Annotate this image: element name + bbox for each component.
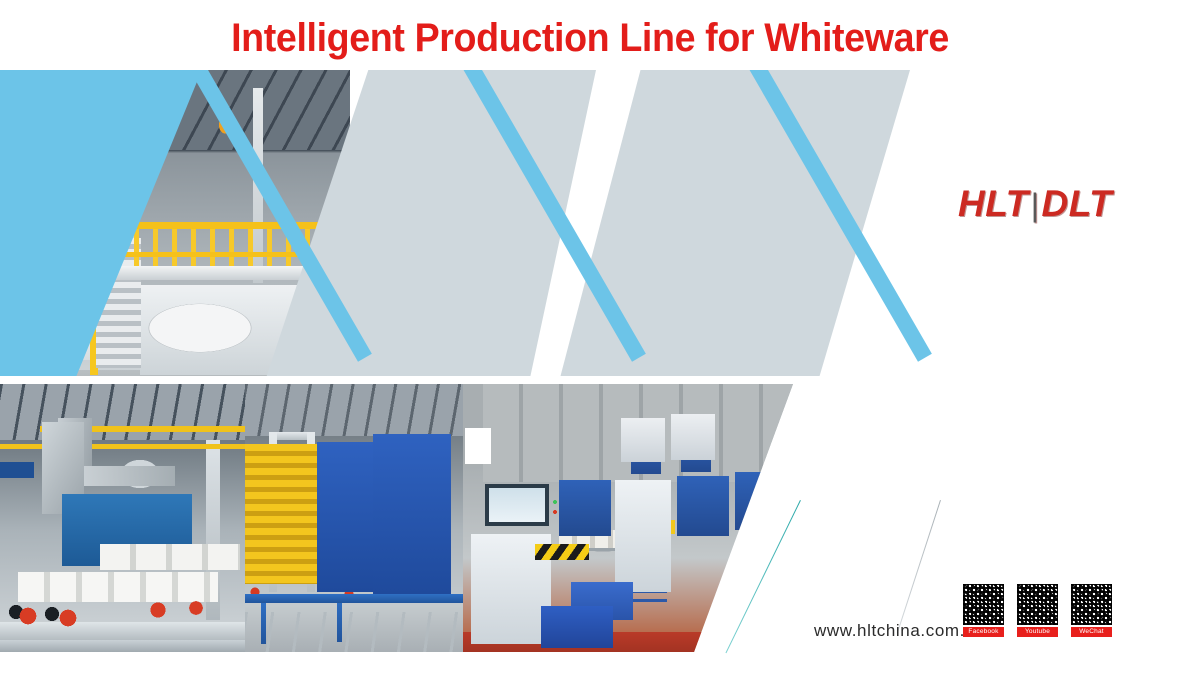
qr-code-image [963, 584, 1004, 625]
qr-label: WeChat [1071, 627, 1112, 637]
qr-wechat[interactable]: WeChat [1071, 584, 1112, 637]
photo-glazing-line [0, 384, 250, 652]
qr-label: Facebook [963, 627, 1004, 637]
photo-surface [463, 384, 793, 652]
photo-inspection-grinding-line [463, 384, 793, 652]
logo-hlt: HLT [958, 183, 1029, 224]
poster-root: Intelligent Production Line for Whitewar… [0, 0, 1180, 682]
brand-logo: HLT|DLT [958, 183, 1112, 225]
qr-code-image [1017, 584, 1058, 625]
page-title: Intelligent Production Line for Whitewar… [35, 16, 1144, 61]
qr-youtube[interactable]: Youtube [1017, 584, 1058, 637]
qr-code-image [1071, 584, 1112, 625]
logo-dlt: DLT [1042, 183, 1113, 224]
photo-blue-drying-cabinets [245, 384, 470, 652]
photo-surface [0, 384, 250, 652]
qr-facebook[interactable]: Facebook [963, 584, 1004, 637]
qr-label: Youtube [1017, 627, 1058, 637]
qr-code-row: Facebook Youtube WeChat [963, 584, 1112, 637]
photo-surface [245, 384, 470, 652]
website-url[interactable]: www.hltchina.com.cn [814, 621, 984, 641]
logo-divider: | [1029, 187, 1042, 223]
